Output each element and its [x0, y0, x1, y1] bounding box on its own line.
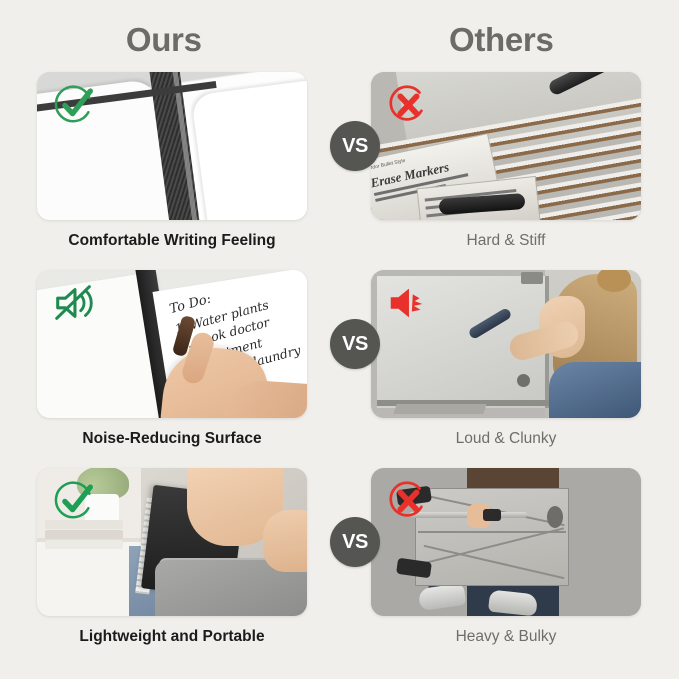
others-image-card-row-2: [371, 270, 641, 418]
comparison-header: Ours Others: [0, 18, 679, 66]
vs-badge-row-2: VS: [330, 319, 380, 369]
red-x-circle-icon: [385, 82, 431, 128]
green-check-circle-icon: [51, 82, 97, 128]
others-caption-row-1: Hard & Stiff: [371, 231, 641, 251]
red-x-circle-icon: [385, 478, 431, 524]
ours-image-card-row-3: [37, 468, 307, 616]
others-cell-row-3: Heavy & Bulky: [371, 468, 641, 647]
others-cell-row-1: Odor Bullet Style Erase Markers Hard & S…: [371, 72, 641, 251]
ours-image-card-row-1: [37, 72, 307, 220]
others-cell-row-2: Loud & Clunky: [371, 270, 641, 449]
comparison-row-2: To Do: 1. Water plants 2. Book doctor ap…: [0, 270, 679, 468]
vs-badge-row-1: VS: [330, 121, 380, 171]
ours-cell-row-3: Lightweight and Portable: [37, 468, 307, 647]
ours-caption-row-2: Noise-Reducing Surface: [37, 429, 307, 449]
header-ours: Ours: [0, 18, 334, 66]
vs-badge-row-3: VS: [330, 517, 380, 567]
others-caption-row-3: Heavy & Bulky: [371, 627, 641, 647]
others-caption-row-2: Loud & Clunky: [371, 429, 641, 449]
ours-caption-row-3: Lightweight and Portable: [37, 627, 307, 647]
green-speaker-muted-icon: [51, 280, 97, 326]
ours-cell-row-2: To Do: 1. Water plants 2. Book doctor ap…: [37, 270, 307, 449]
ours-image-card-row-2: To Do: 1. Water plants 2. Book doctor ap…: [37, 270, 307, 418]
others-image-card-row-1: Odor Bullet Style Erase Markers: [371, 72, 641, 220]
ours-caption-row-1: Comfortable Writing Feeling: [37, 231, 307, 251]
red-speaker-loud-icon: [385, 280, 431, 326]
comparison-row-1: Comfortable Writing Feeling VS Odor Bull…: [0, 72, 679, 270]
green-check-circle-icon: [51, 478, 97, 524]
ours-cell-row-1: Comfortable Writing Feeling: [37, 72, 307, 251]
header-others: Others: [332, 18, 672, 66]
comparison-row-3: Lightweight and Portable VS: [0, 468, 679, 666]
others-image-card-row-3: [371, 468, 641, 616]
